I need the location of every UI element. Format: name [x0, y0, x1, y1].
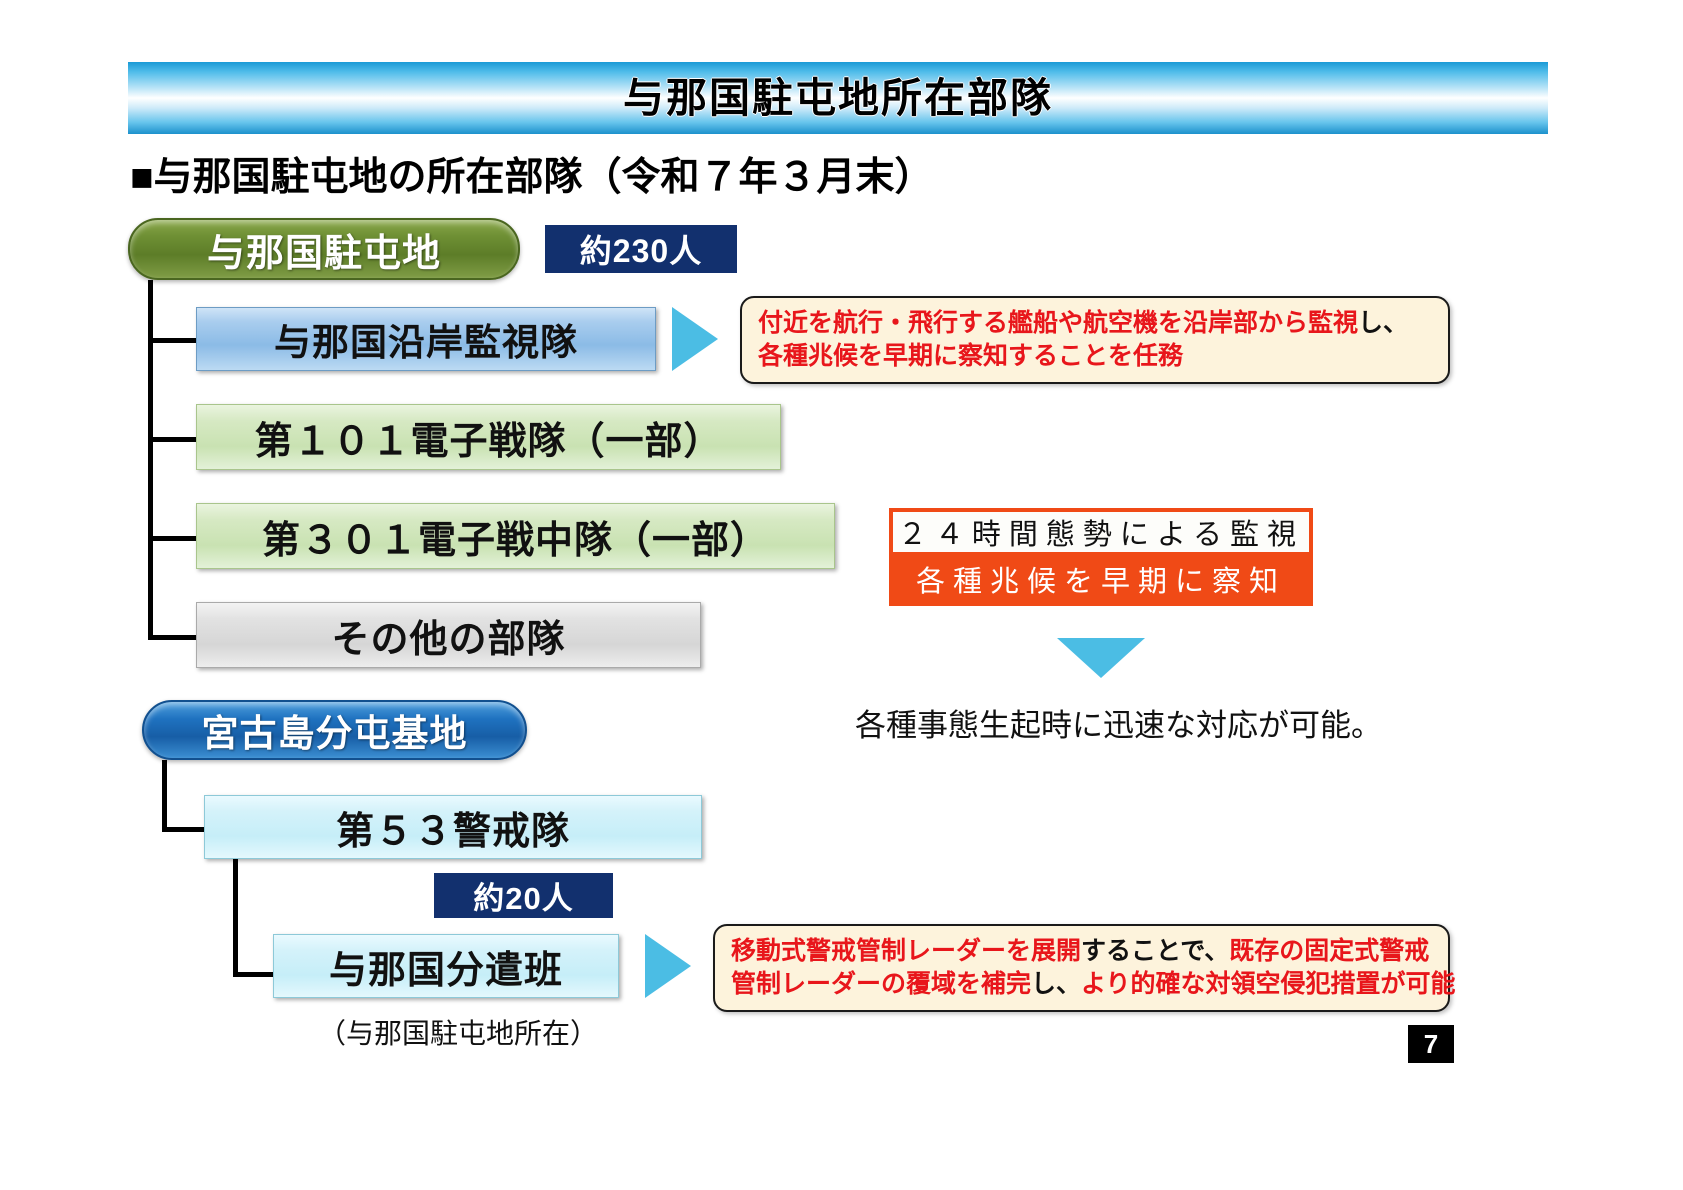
unit-box-yonaguni-detachment: 与那国分遣班	[273, 934, 619, 998]
miyako-header-label: 宮古島分屯基地	[202, 703, 468, 757]
unit-label: 与那国沿岸監視隊	[274, 312, 578, 366]
slide-canvas: 与那国駐屯地所在部隊 ■与那国駐屯地の所在部隊（令和７年３月末） 与那国駐屯地 …	[0, 0, 1683, 1190]
unit-box-other-units: その他の部隊	[196, 602, 701, 668]
callout-text-red: 既存の固定式警戒	[1229, 937, 1429, 965]
callout-line-1: 付近を航行・飛行する艦船や航空機を沿岸部から監視し、	[758, 307, 1432, 340]
connector-spine-garrison	[148, 280, 153, 640]
unit-box-101-ew: 第１０１電子戦隊（一部）	[196, 404, 781, 470]
connector-branch-unit-2	[148, 437, 196, 442]
garrison-header-box: 与那国駐屯地	[128, 218, 520, 280]
triangle-right-icon	[645, 934, 691, 998]
garrison-personnel-label: 約230人	[580, 226, 702, 272]
unit-label: 第１０１電子戦隊（一部）	[254, 410, 722, 465]
subtitle-heading: ■与那国駐屯地の所在部隊（令和７年３月末）	[130, 146, 934, 202]
summary-panel-top: ２４時間態勢による監視	[889, 508, 1313, 556]
garrison-header-label: 与那国駐屯地	[207, 222, 441, 277]
callout-text-black: し、	[1358, 309, 1408, 337]
callout-radar-capability: 移動式警戒管制レーダーを展開することで、既存の固定式警戒 管制レーダーの覆域を補…	[713, 924, 1450, 1012]
connector-spine-miyako	[162, 760, 167, 832]
callout-text-red: 付近を航行・飛行する艦船や航空機を沿岸部から監視	[758, 309, 1358, 337]
unit-box-coastal-surveillance: 与那国沿岸監視隊	[196, 307, 656, 371]
unit-label: 第３０１電子戦中隊（一部）	[262, 509, 769, 564]
callout-text-red: より的確な対領空侵犯措置が可能	[1081, 970, 1456, 998]
unit-label: 第５３警戒隊	[336, 800, 570, 855]
miyako-header-box: 宮古島分屯基地	[142, 700, 527, 760]
unit-box-301-ew: 第３０１電子戦中隊（一部）	[196, 503, 835, 569]
unit-box-53rd-warning-squadron: 第５３警戒隊	[204, 795, 702, 859]
connector-branch-unit-1	[148, 338, 196, 343]
callout-line-2: 管制レーダーの覆域を補完し、より的確な対領空侵犯措置が可能	[731, 968, 1432, 1001]
triangle-right-icon	[672, 307, 718, 371]
callout-line-1: 移動式警戒管制レーダーを展開することで、既存の固定式警戒	[731, 935, 1432, 968]
garrison-personnel-badge: 約230人	[545, 225, 737, 273]
connector-branch-53rd	[162, 827, 204, 832]
callout-text-black: することで、	[1081, 937, 1229, 965]
summary-top-label: ２４時間態勢による監視	[898, 511, 1304, 553]
page-number-badge: 7	[1408, 1025, 1454, 1063]
connector-branch-unit-3	[148, 536, 196, 541]
page-title: 与那国駐屯地所在部隊	[623, 78, 1053, 119]
unit-label: その他の部隊	[331, 608, 565, 663]
summary-panel-bottom: 各種兆候を早期に察知	[889, 556, 1313, 606]
callout-text-red: 管制レーダーの覆域を補完	[731, 970, 1031, 998]
callout-text-red: 移動式警戒管制レーダーを展開	[731, 937, 1081, 965]
unit-label: 与那国分遣班	[329, 939, 563, 994]
title-banner: 与那国駐屯地所在部隊	[128, 62, 1548, 134]
conclusion-text: 各種事態生起時に迅速な対応が可能。	[855, 700, 1382, 745]
connector-branch-unit-4	[148, 635, 196, 640]
callout-text-black: し、	[1031, 970, 1081, 998]
page-number-label: 7	[1424, 1029, 1438, 1060]
detachment-caption: （与那国駐屯地所在）	[318, 1012, 598, 1052]
detachment-personnel-badge: 約20人	[434, 873, 613, 918]
callout-line-2: 各種兆候を早期に察知することを任務	[758, 340, 1432, 373]
connector-branch-detachment	[233, 972, 273, 977]
summary-bottom-label: 各種兆候を早期に察知	[916, 558, 1286, 600]
callout-coastal-mission: 付近を航行・飛行する艦船や航空機を沿岸部から監視し、 各種兆候を早期に察知するこ…	[740, 296, 1450, 384]
detachment-personnel-label: 約20人	[473, 873, 573, 918]
callout-text-red: 各種兆候を早期に察知することを任務	[758, 342, 1183, 370]
triangle-down-icon	[1057, 638, 1145, 678]
connector-spine-detachment	[233, 859, 238, 977]
